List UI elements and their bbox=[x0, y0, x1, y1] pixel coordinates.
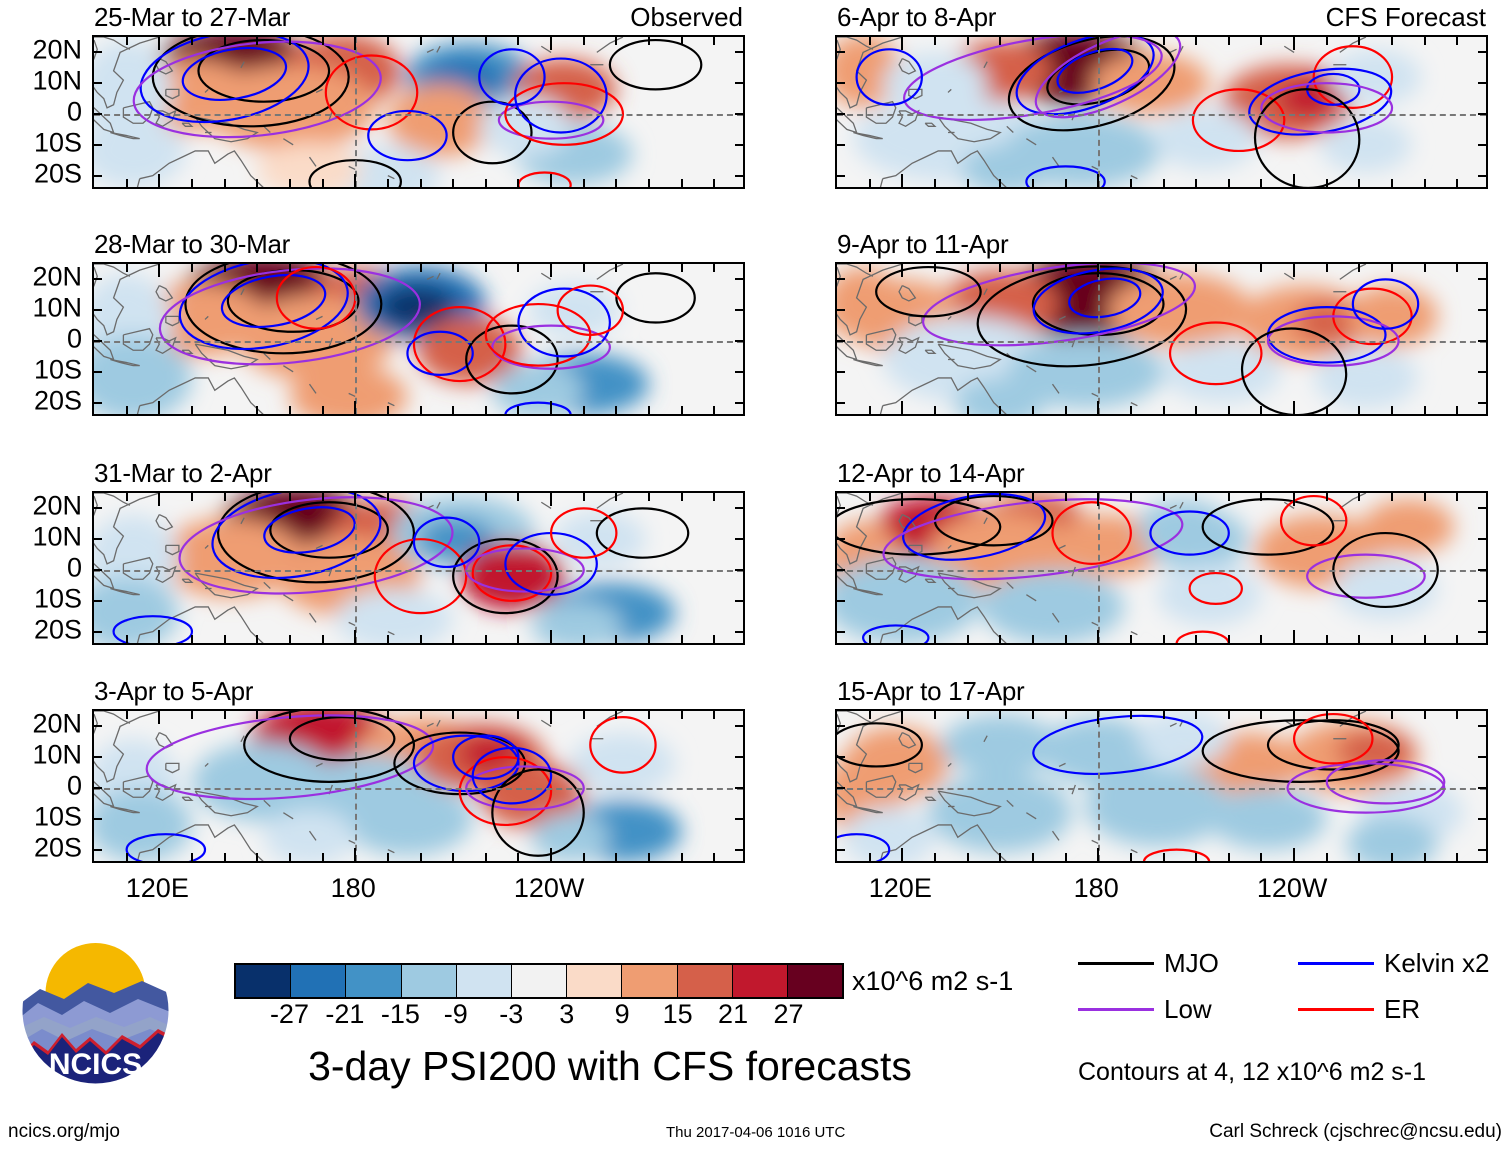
axis-tick bbox=[452, 37, 454, 45]
y-axis-tick-label: 0 bbox=[67, 99, 82, 126]
axis-tick bbox=[1391, 406, 1393, 414]
axis-tick bbox=[869, 635, 871, 643]
axis-tick bbox=[550, 37, 552, 50]
axis-tick bbox=[1478, 569, 1486, 571]
axis-tick bbox=[550, 174, 552, 187]
axis-tick bbox=[94, 144, 102, 146]
axis-tick bbox=[837, 278, 845, 280]
axis-tick bbox=[1228, 635, 1230, 643]
axis-tick bbox=[322, 853, 324, 861]
axis-tick bbox=[1478, 82, 1486, 84]
axis-tick bbox=[94, 849, 102, 851]
axis-tick bbox=[1478, 600, 1486, 602]
axis-tick bbox=[1326, 711, 1328, 719]
axis-tick bbox=[126, 635, 128, 643]
anomaly-field bbox=[94, 493, 745, 645]
axis-tick bbox=[1478, 340, 1486, 342]
axis-tick bbox=[615, 493, 617, 501]
axis-tick bbox=[94, 787, 102, 789]
axis-tick bbox=[615, 37, 617, 45]
axis-tick bbox=[901, 493, 903, 506]
axis-tick bbox=[967, 635, 969, 643]
axis-tick bbox=[1163, 853, 1165, 861]
y-axis-tick-label: 20N bbox=[32, 264, 82, 291]
axis-tick bbox=[934, 711, 936, 719]
equator-line bbox=[837, 114, 1486, 116]
map-plot bbox=[92, 262, 745, 416]
axis-tick bbox=[420, 493, 422, 501]
axis-tick bbox=[713, 853, 715, 861]
axis-tick bbox=[158, 493, 160, 506]
axis-tick bbox=[1478, 849, 1486, 851]
axis-tick bbox=[1456, 853, 1458, 861]
axis-tick bbox=[1130, 493, 1132, 501]
axis-tick bbox=[191, 37, 193, 45]
forecast-panel: 15-Apr to 17-Apr bbox=[835, 679, 1488, 863]
axis-tick bbox=[1358, 853, 1360, 861]
axis-tick bbox=[901, 174, 903, 187]
forecast-panel: 28-Mar to 30-Mar bbox=[92, 232, 745, 416]
axis-tick bbox=[869, 179, 871, 187]
axis-tick bbox=[837, 725, 845, 727]
axis-tick bbox=[322, 493, 324, 501]
axis-tick bbox=[967, 179, 969, 187]
anomaly-field bbox=[837, 493, 1488, 645]
colorbar-tick-label: -9 bbox=[444, 1001, 468, 1028]
axis-tick bbox=[224, 179, 226, 187]
axis-tick bbox=[1456, 635, 1458, 643]
dateline bbox=[355, 711, 357, 861]
axis-tick bbox=[615, 853, 617, 861]
axis-tick bbox=[1260, 853, 1262, 861]
axis-tick bbox=[967, 37, 969, 45]
axis-tick bbox=[1260, 37, 1262, 45]
panel-grid: 25-Mar to 27-MarObserved20N10N010S20S6-A… bbox=[0, 0, 1510, 860]
axis-tick bbox=[224, 406, 226, 414]
axis-tick bbox=[256, 711, 258, 719]
axis-tick bbox=[869, 264, 871, 272]
x-axis-tick-label: 120W bbox=[514, 873, 585, 904]
axis-tick bbox=[1391, 711, 1393, 719]
axis-tick bbox=[1424, 853, 1426, 861]
axis-tick bbox=[967, 853, 969, 861]
axis-tick bbox=[735, 402, 743, 404]
equator-line bbox=[837, 570, 1486, 572]
anomaly-field bbox=[94, 264, 745, 416]
logo-text: NCICS bbox=[49, 1048, 142, 1081]
axis-tick bbox=[224, 264, 226, 272]
x-axis-tick-label: 120E bbox=[869, 873, 932, 904]
axis-tick bbox=[1130, 264, 1132, 272]
axis-tick bbox=[354, 264, 356, 277]
axis-tick bbox=[1032, 853, 1034, 861]
axis-tick bbox=[1163, 37, 1165, 45]
axis-tick bbox=[452, 179, 454, 187]
axis-tick bbox=[158, 401, 160, 414]
legend-label-er: ER bbox=[1384, 994, 1420, 1025]
axis-tick bbox=[1195, 37, 1197, 45]
axis-tick bbox=[452, 493, 454, 501]
axis-tick bbox=[191, 853, 193, 861]
axis-tick bbox=[485, 264, 487, 272]
axis-tick bbox=[1478, 787, 1486, 789]
axis-tick bbox=[94, 82, 102, 84]
axis-tick bbox=[1228, 853, 1230, 861]
axis-tick bbox=[837, 113, 845, 115]
axis-tick bbox=[1032, 406, 1034, 414]
axis-tick bbox=[126, 493, 128, 501]
axis-tick bbox=[1130, 635, 1132, 643]
axis-tick bbox=[999, 711, 1001, 719]
colorbar-swatch bbox=[457, 965, 512, 997]
axis-tick bbox=[1478, 631, 1486, 633]
axis-tick bbox=[1260, 179, 1262, 187]
axis-tick bbox=[681, 406, 683, 414]
map-plot bbox=[835, 709, 1488, 863]
axis-tick bbox=[158, 711, 160, 724]
colorbar-tick-label: 27 bbox=[774, 1001, 804, 1028]
axis-tick bbox=[322, 37, 324, 45]
axis-tick bbox=[126, 711, 128, 719]
x-axis-tick-label: 120W bbox=[1257, 873, 1328, 904]
axis-tick bbox=[94, 51, 102, 53]
panel-title: 31-Mar to 2-Apr bbox=[94, 460, 272, 486]
panel-title: 9-Apr to 11-Apr bbox=[837, 231, 1008, 257]
legend-label-kelvin: Kelvin x2 bbox=[1384, 948, 1490, 979]
axis-tick bbox=[1358, 493, 1360, 501]
axis-tick bbox=[517, 711, 519, 719]
panel-title: 25-Mar to 27-Mar bbox=[94, 4, 290, 30]
axis-tick bbox=[1228, 264, 1230, 272]
axis-tick bbox=[713, 37, 715, 45]
anomaly-field bbox=[94, 37, 745, 189]
axis-tick bbox=[735, 631, 743, 633]
axis-tick bbox=[550, 630, 552, 643]
axis-tick bbox=[1260, 493, 1262, 501]
contour-note: Contours at 4, 12 x10^6 m2 s-1 bbox=[1078, 1058, 1426, 1087]
axis-tick bbox=[1195, 635, 1197, 643]
axis-tick bbox=[1478, 113, 1486, 115]
axis-tick bbox=[1358, 711, 1360, 719]
axis-tick bbox=[256, 406, 258, 414]
axis-tick bbox=[1097, 401, 1099, 414]
axis-tick bbox=[615, 179, 617, 187]
y-axis-tick-label: 20S bbox=[34, 387, 82, 414]
axis-tick bbox=[550, 401, 552, 414]
axis-tick bbox=[1391, 635, 1393, 643]
dateline bbox=[1098, 493, 1100, 643]
map-plot bbox=[92, 35, 745, 189]
axis-tick bbox=[735, 725, 743, 727]
axis-tick bbox=[934, 264, 936, 272]
colorbar-swatch bbox=[512, 965, 567, 997]
dateline bbox=[1098, 37, 1100, 187]
axis-tick bbox=[648, 406, 650, 414]
axis-tick bbox=[485, 711, 487, 719]
axis-tick bbox=[517, 37, 519, 45]
axis-tick bbox=[322, 264, 324, 272]
y-axis-labels: 20N10N010S20S bbox=[4, 262, 90, 416]
axis-tick bbox=[191, 264, 193, 272]
axis-tick bbox=[615, 406, 617, 414]
axis-tick bbox=[648, 493, 650, 501]
axis-tick bbox=[735, 818, 743, 820]
axis-tick bbox=[485, 37, 487, 45]
axis-tick bbox=[224, 853, 226, 861]
axis-tick bbox=[550, 848, 552, 861]
axis-tick bbox=[94, 278, 102, 280]
colorbar-tick-label: -3 bbox=[499, 1001, 523, 1028]
colorbar-tick-label: 15 bbox=[663, 1001, 693, 1028]
axis-tick bbox=[837, 51, 845, 53]
axis-tick bbox=[94, 569, 102, 571]
axis-tick bbox=[420, 406, 422, 414]
axis-tick bbox=[485, 635, 487, 643]
axis-tick bbox=[999, 179, 1001, 187]
axis-tick bbox=[934, 406, 936, 414]
axis-tick bbox=[583, 493, 585, 501]
panel-column-label: CFS Forecast bbox=[1326, 4, 1486, 30]
panel-title: 12-Apr to 14-Apr bbox=[837, 460, 1024, 486]
axis-tick bbox=[583, 406, 585, 414]
axis-tick bbox=[1326, 406, 1328, 414]
dateline bbox=[1098, 711, 1100, 861]
axis-tick bbox=[735, 600, 743, 602]
axis-tick bbox=[420, 635, 422, 643]
dateline bbox=[355, 264, 357, 414]
axis-tick bbox=[1228, 711, 1230, 719]
axis-tick bbox=[967, 264, 969, 272]
axis-tick bbox=[713, 179, 715, 187]
axis-tick bbox=[1424, 179, 1426, 187]
axis-tick bbox=[126, 179, 128, 187]
axis-tick bbox=[322, 179, 324, 187]
axis-tick bbox=[837, 340, 845, 342]
axis-tick bbox=[583, 37, 585, 45]
axis-tick bbox=[1228, 179, 1230, 187]
axis-tick bbox=[1424, 635, 1426, 643]
axis-tick bbox=[1260, 406, 1262, 414]
axis-tick bbox=[837, 507, 845, 509]
axis-tick bbox=[1358, 179, 1360, 187]
axis-tick bbox=[1456, 179, 1458, 187]
mjo-line-icon bbox=[1078, 962, 1154, 965]
axis-tick bbox=[1478, 144, 1486, 146]
axis-tick bbox=[615, 635, 617, 643]
axis-tick bbox=[191, 406, 193, 414]
axis-tick bbox=[901, 401, 903, 414]
axis-tick bbox=[837, 849, 845, 851]
axis-tick bbox=[517, 406, 519, 414]
axis-tick bbox=[1195, 179, 1197, 187]
axis-tick bbox=[1163, 711, 1165, 719]
axis-tick bbox=[94, 175, 102, 177]
y-axis-tick-label: 0 bbox=[67, 555, 82, 582]
axis-tick bbox=[94, 538, 102, 540]
axis-tick bbox=[999, 406, 1001, 414]
axis-tick bbox=[1097, 174, 1099, 187]
axis-tick bbox=[1424, 406, 1426, 414]
axis-tick bbox=[934, 37, 936, 45]
axis-tick bbox=[289, 493, 291, 501]
axis-tick bbox=[550, 711, 552, 724]
axis-tick bbox=[869, 711, 871, 719]
axis-tick bbox=[681, 37, 683, 45]
axis-tick bbox=[1358, 635, 1360, 643]
axis-tick bbox=[517, 635, 519, 643]
axis-tick bbox=[934, 179, 936, 187]
axis-tick bbox=[420, 179, 422, 187]
y-axis-tick-label: 10S bbox=[34, 585, 82, 612]
axis-tick bbox=[1326, 37, 1328, 45]
axis-tick bbox=[452, 635, 454, 643]
axis-tick bbox=[1065, 406, 1067, 414]
axis-tick bbox=[583, 179, 585, 187]
axis-tick bbox=[1293, 401, 1295, 414]
axis-tick bbox=[1293, 264, 1295, 277]
axis-tick bbox=[1326, 853, 1328, 861]
axis-tick bbox=[901, 37, 903, 50]
forecast-panel: 12-Apr to 14-Apr bbox=[835, 461, 1488, 645]
axis-tick bbox=[1478, 725, 1486, 727]
axis-tick bbox=[1293, 37, 1295, 50]
legend-item-mjo: MJO bbox=[1078, 948, 1219, 979]
axis-tick bbox=[1478, 51, 1486, 53]
axis-tick bbox=[999, 264, 1001, 272]
forecast-panel: 25-Mar to 27-MarObserved bbox=[92, 5, 745, 189]
axis-tick bbox=[837, 569, 845, 571]
axis-tick bbox=[1228, 493, 1230, 501]
axis-tick bbox=[1130, 853, 1132, 861]
axis-tick bbox=[1456, 406, 1458, 414]
equator-line bbox=[94, 114, 743, 116]
colorbar-tick-label: -21 bbox=[325, 1001, 364, 1028]
axis-tick bbox=[837, 756, 845, 758]
axis-tick bbox=[1032, 635, 1034, 643]
axis-tick bbox=[1032, 179, 1034, 187]
axis-tick bbox=[256, 264, 258, 272]
axis-tick bbox=[583, 635, 585, 643]
axis-tick bbox=[94, 631, 102, 633]
axis-tick bbox=[94, 402, 102, 404]
y-axis-tick-label: 20S bbox=[34, 834, 82, 861]
axis-tick bbox=[1032, 711, 1034, 719]
axis-tick bbox=[191, 635, 193, 643]
dateline bbox=[355, 37, 357, 187]
axis-tick bbox=[934, 493, 936, 501]
axis-tick bbox=[94, 507, 102, 509]
axis-tick bbox=[256, 853, 258, 861]
axis-tick bbox=[1195, 711, 1197, 719]
axis-tick bbox=[485, 406, 487, 414]
axis-tick bbox=[1391, 493, 1393, 501]
axis-tick bbox=[934, 635, 936, 643]
axis-tick bbox=[869, 853, 871, 861]
axis-tick bbox=[322, 635, 324, 643]
axis-tick bbox=[837, 818, 845, 820]
colorbar-swatch bbox=[733, 965, 788, 997]
axis-tick bbox=[1293, 493, 1295, 506]
axis-tick bbox=[1391, 264, 1393, 272]
y-axis-tick-label: 10N bbox=[32, 68, 82, 95]
footer-left[interactable]: ncics.org/mjo bbox=[8, 1121, 120, 1143]
axis-tick bbox=[1163, 635, 1165, 643]
axis-tick bbox=[126, 37, 128, 45]
axis-tick bbox=[1478, 175, 1486, 177]
axis-tick bbox=[1228, 37, 1230, 45]
colorbar-swatch bbox=[567, 965, 622, 997]
y-axis-tick-label: 20N bbox=[32, 711, 82, 738]
anomaly-field bbox=[94, 711, 745, 863]
axis-tick bbox=[837, 175, 845, 177]
ncics-logo: NCICS bbox=[18, 933, 173, 1088]
anomaly-field bbox=[837, 711, 1488, 863]
axis-tick bbox=[1195, 493, 1197, 501]
axis-tick bbox=[452, 264, 454, 272]
axis-tick bbox=[1163, 493, 1165, 501]
axis-tick bbox=[1163, 179, 1165, 187]
axis-tick bbox=[1391, 37, 1393, 45]
map-plot bbox=[835, 491, 1488, 645]
footer-timestamp: Thu 2017-04-06 1016 UTC bbox=[666, 1124, 845, 1141]
axis-tick bbox=[289, 635, 291, 643]
axis-tick bbox=[1424, 493, 1426, 501]
axis-tick bbox=[1032, 493, 1034, 501]
axis-tick bbox=[837, 144, 845, 146]
axis-tick bbox=[681, 635, 683, 643]
axis-tick bbox=[999, 853, 1001, 861]
axis-tick bbox=[420, 711, 422, 719]
axis-tick bbox=[354, 37, 356, 50]
axis-tick bbox=[1228, 406, 1230, 414]
axis-tick bbox=[967, 493, 969, 501]
axis-tick bbox=[735, 51, 743, 53]
axis-tick bbox=[681, 493, 683, 501]
axis-tick bbox=[1130, 406, 1132, 414]
axis-tick bbox=[1163, 406, 1165, 414]
axis-tick bbox=[94, 371, 102, 373]
dateline bbox=[355, 493, 357, 643]
x-axis-tick-label: 180 bbox=[1074, 873, 1119, 904]
axis-tick bbox=[126, 264, 128, 272]
axis-tick bbox=[735, 82, 743, 84]
axis-tick bbox=[1326, 635, 1328, 643]
colorbar-swatch bbox=[402, 965, 457, 997]
axis-tick bbox=[94, 113, 102, 115]
axis-tick bbox=[354, 630, 356, 643]
axis-tick bbox=[1358, 264, 1360, 272]
axis-tick bbox=[94, 600, 102, 602]
axis-tick bbox=[999, 37, 1001, 45]
axis-tick bbox=[1424, 37, 1426, 45]
axis-tick bbox=[485, 493, 487, 501]
axis-tick bbox=[735, 144, 743, 146]
axis-tick bbox=[550, 264, 552, 277]
axis-tick bbox=[837, 82, 845, 84]
axis-tick bbox=[1478, 371, 1486, 373]
axis-tick bbox=[1032, 37, 1034, 45]
axis-tick bbox=[1293, 630, 1295, 643]
axis-tick bbox=[94, 725, 102, 727]
axis-tick bbox=[387, 179, 389, 187]
axis-tick bbox=[94, 340, 102, 342]
axis-tick bbox=[485, 853, 487, 861]
axis-tick bbox=[158, 174, 160, 187]
axis-tick bbox=[517, 179, 519, 187]
axis-tick bbox=[1097, 493, 1099, 506]
axis-tick bbox=[1195, 853, 1197, 861]
axis-tick bbox=[289, 179, 291, 187]
